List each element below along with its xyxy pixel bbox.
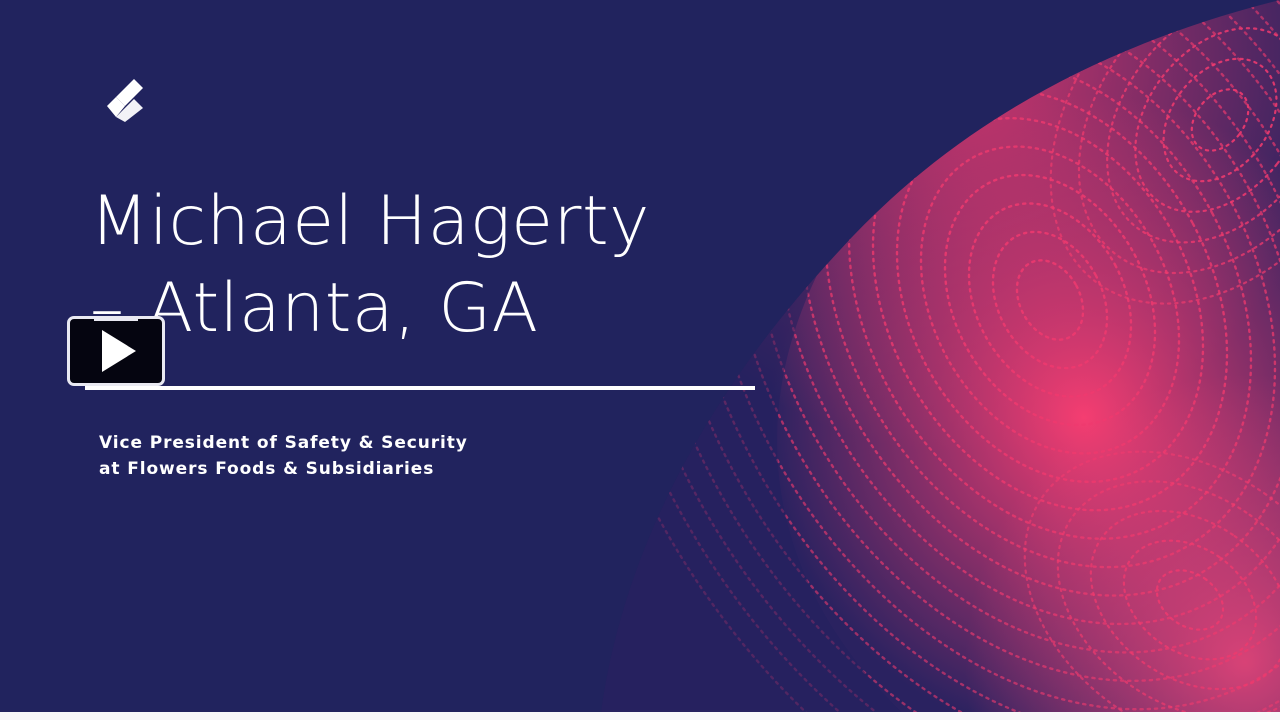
title-divider [85, 386, 755, 390]
video-play-button[interactable] [67, 316, 165, 386]
presentation-slide: Michael Hagerty – Atlanta, GA Vice Presi… [0, 0, 1280, 720]
bottom-edge-strip [0, 712, 1280, 720]
brand-logo-icon [104, 78, 144, 122]
particle-wave-graphic [580, 0, 1280, 720]
slide-text-block: Michael Hagerty – Atlanta, GA [90, 178, 790, 352]
page-title: Michael Hagerty – Atlanta, GA [90, 178, 790, 352]
slide-subtitle: Vice President of Safety & Security at F… [99, 430, 468, 483]
play-triangle-icon [102, 330, 136, 372]
